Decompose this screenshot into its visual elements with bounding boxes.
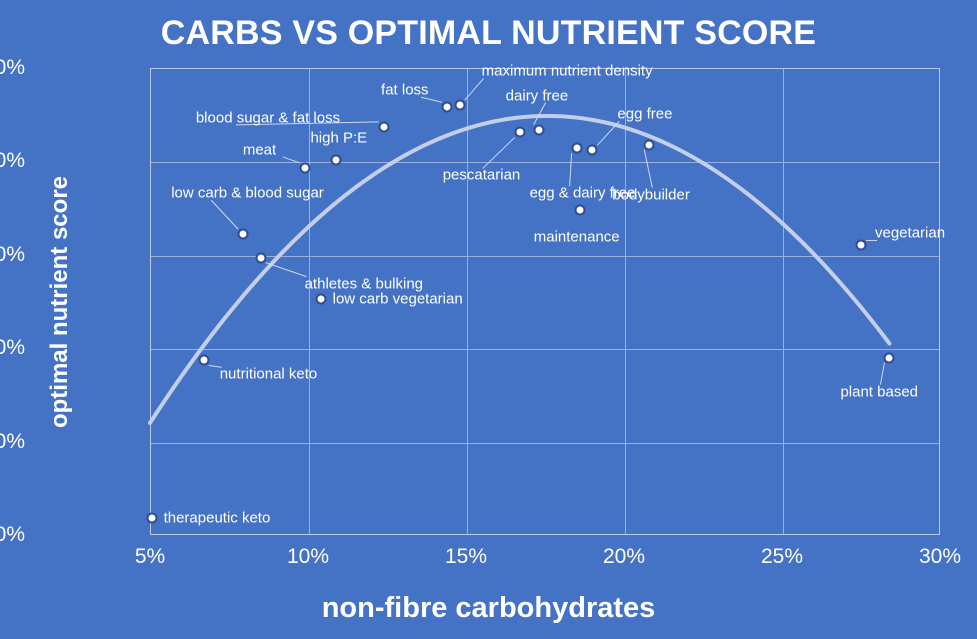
y-tick-label: 80%: [0, 149, 25, 173]
x-tick-label: 15%: [426, 545, 506, 569]
plot-area: [150, 68, 940, 535]
data-point-marker[interactable]: [533, 124, 544, 135]
data-point-label: vegetarian: [875, 225, 945, 242]
gridline-horizontal: [151, 162, 939, 163]
data-point-label: dairy free: [506, 87, 569, 104]
x-axis-title: non-fibre carbohydrates: [0, 592, 977, 625]
data-point-marker[interactable]: [856, 240, 867, 251]
data-point-label: egg free: [617, 106, 672, 123]
data-point-marker[interactable]: [644, 139, 655, 150]
gridline-horizontal: [151, 443, 939, 444]
data-point-label: meat: [243, 141, 276, 158]
data-point-marker[interactable]: [574, 204, 585, 215]
data-point-marker[interactable]: [442, 102, 453, 113]
data-point-label: low carb & blood sugar: [171, 185, 324, 202]
y-tick-label: 70%: [0, 243, 25, 267]
x-tick-label: 20%: [584, 545, 664, 569]
x-tick-label: 5%: [110, 545, 190, 569]
chart-container: CARBS VS OPTIMAL NUTRIENT SCORE optimal …: [0, 0, 977, 639]
data-point-marker[interactable]: [255, 252, 266, 263]
data-point-label: therapeutic keto: [164, 510, 271, 527]
y-tick-label: 50%: [0, 430, 25, 454]
data-point-label: fat loss: [381, 82, 429, 99]
data-point-label: blood sugar & fat loss: [196, 109, 340, 126]
data-point-label: maintenance: [534, 228, 620, 245]
data-point-marker[interactable]: [238, 229, 249, 240]
x-tick-label: 25%: [742, 545, 822, 569]
chart-title: CARBS VS OPTIMAL NUTRIENT SCORE: [0, 14, 977, 53]
y-axis-title: optimal nutrient score: [46, 172, 74, 432]
x-tick-label: 10%: [268, 545, 348, 569]
data-point-marker[interactable]: [315, 293, 326, 304]
data-point-marker[interactable]: [884, 352, 895, 363]
data-point-marker[interactable]: [331, 154, 342, 165]
data-point-marker[interactable]: [571, 143, 582, 154]
data-point-label: bodybuilder: [612, 186, 690, 203]
data-point-label: high P:E: [310, 129, 367, 146]
gridline-vertical: [625, 69, 626, 534]
y-tick-label: 90%: [0, 56, 25, 80]
x-tick-label: 30%: [900, 545, 977, 569]
data-point-marker[interactable]: [146, 513, 157, 524]
data-point-marker[interactable]: [587, 145, 598, 156]
gridline-vertical: [467, 69, 468, 534]
data-point-label: nutritional keto: [220, 366, 318, 383]
gridline-vertical: [783, 69, 784, 534]
data-point-label: pescatarian: [443, 167, 521, 184]
gridline-horizontal: [151, 349, 939, 350]
data-point-marker[interactable]: [514, 127, 525, 138]
data-point-label: plant based: [840, 383, 918, 400]
gridline-horizontal: [151, 256, 939, 257]
data-point-label: low carb vegetarian: [333, 290, 463, 307]
data-point-marker[interactable]: [299, 162, 310, 173]
data-point-marker[interactable]: [454, 100, 465, 111]
data-point-label: maximum nutrient density: [482, 63, 653, 80]
data-point-marker[interactable]: [378, 121, 389, 132]
y-tick-label: 40%: [0, 523, 25, 547]
y-tick-label: 60%: [0, 336, 25, 360]
data-point-marker[interactable]: [198, 355, 209, 366]
